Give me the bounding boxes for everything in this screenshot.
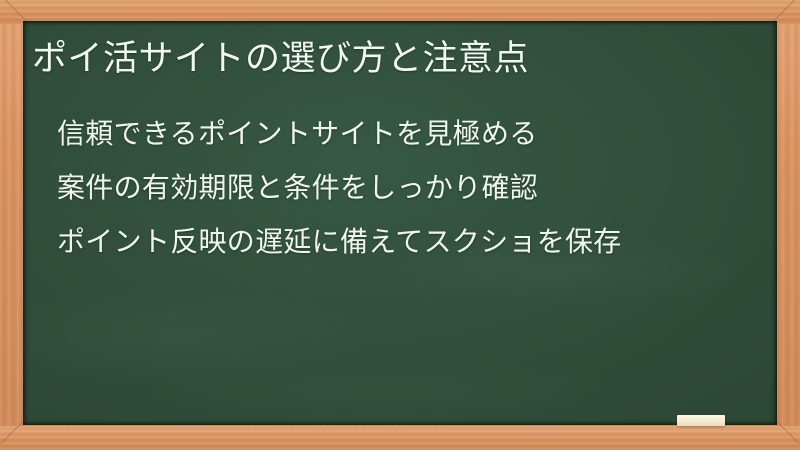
- slide-point-3: ポイント反映の遅延に備えてスクショを保存: [57, 215, 757, 269]
- chalkboard-slide: ポイ活サイトの選び方と注意点 信頼できるポイントサイトを見極める 案件の有効期限…: [0, 0, 800, 450]
- blackboard-content: ポイ活サイトの選び方と注意点 信頼できるポイントサイトを見極める 案件の有効期限…: [23, 21, 777, 425]
- slide-title: ポイ活サイトの選び方と注意点: [32, 35, 762, 83]
- chalk-icon: [677, 415, 725, 426]
- slide-point-list: 信頼できるポイントサイトを見極める 案件の有効期限と条件をしっかり確認 ポイント…: [57, 107, 757, 269]
- blackboard-surface: ポイ活サイトの選び方と注意点 信頼できるポイントサイトを見極める 案件の有効期限…: [23, 21, 777, 425]
- frame-rail-bottom: [0, 426, 800, 450]
- slide-point-2: 案件の有効期限と条件をしっかり確認: [57, 161, 757, 215]
- slide-point-1: 信頼できるポイントサイトを見極める: [57, 107, 757, 161]
